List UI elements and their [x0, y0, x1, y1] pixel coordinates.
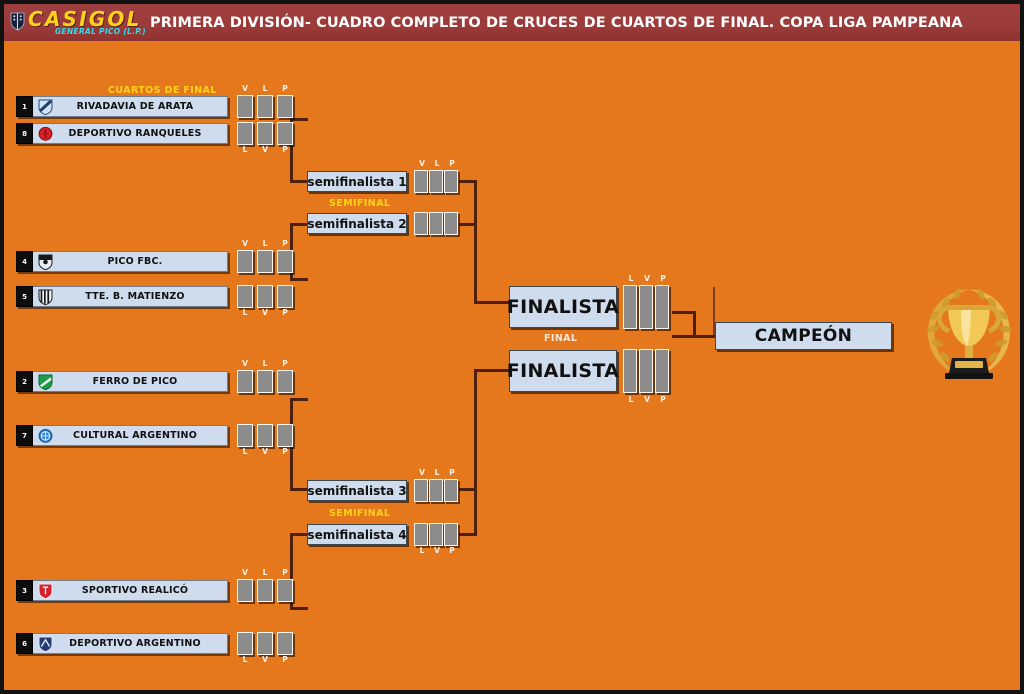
page-title: PRIMERA DIVISIÓN- CUADRO COMPLETO DE CRU…	[150, 15, 1023, 31]
semifinalista-2-slot[interactable]: semifinalista 2	[307, 213, 407, 234]
table-row[interactable]: 1 RIVADAVIA DE ARATA	[16, 96, 228, 117]
score-group-final-top[interactable]	[623, 285, 669, 329]
score-cell-p[interactable]	[277, 370, 293, 393]
score-group-sf2[interactable]	[414, 212, 458, 235]
score-cell-p[interactable]	[444, 212, 458, 235]
score-header-p: P	[278, 359, 292, 368]
label-cuartos-de-final: CUARTOS DE FINAL	[108, 85, 217, 96]
seed-number: 6	[16, 633, 33, 654]
score-cell-l[interactable]	[429, 170, 443, 193]
finalista-top-slot[interactable]: FINALISTA	[509, 286, 617, 328]
score-cell-v[interactable]	[257, 285, 273, 308]
table-row[interactable]: 2 FERRO DE PICO	[16, 371, 228, 392]
score-header-l: L	[238, 145, 252, 154]
score-header-p: P	[445, 468, 459, 477]
score-cell-p[interactable]	[444, 170, 458, 193]
score-header-p: P	[278, 308, 292, 317]
team-name: RIVADAVIA DE ARATA	[57, 96, 228, 117]
score-header-l: L	[238, 447, 252, 456]
campeon-slot[interactable]: CAMPEÓN	[715, 322, 892, 350]
crest-icon-rivadavia	[33, 96, 57, 117]
score-group-sf1[interactable]	[414, 170, 458, 193]
score-cell-p[interactable]	[277, 122, 293, 145]
score-group-qf2-top[interactable]	[237, 250, 293, 273]
score-cell-p[interactable]	[444, 523, 458, 546]
connector-qf3-out	[290, 488, 308, 491]
team-name: DEPORTIVO ARGENTINO	[57, 633, 228, 654]
score-cell-v[interactable]	[414, 170, 428, 193]
score-cell-l[interactable]	[623, 349, 637, 393]
score-header-l: L	[258, 84, 272, 93]
score-group-qf2-bot[interactable]	[237, 285, 293, 308]
table-row[interactable]: 8 DEPORTIVO RANQUELES	[16, 123, 228, 144]
score-cell-p[interactable]	[655, 349, 669, 393]
score-header-v: V	[258, 145, 272, 154]
score-cell-v[interactable]	[414, 479, 428, 502]
score-header-v: V	[258, 308, 272, 317]
crest-icon-pico-fbc	[33, 251, 57, 272]
score-cell-v[interactable]	[257, 122, 273, 145]
connector-champ-vert	[693, 311, 696, 337]
score-header-l: L	[415, 546, 429, 555]
team-name: FERRO DE PICO	[57, 371, 228, 392]
score-header-l: L	[624, 395, 638, 404]
score-cell-p[interactable]	[444, 479, 458, 502]
shield-icon	[10, 12, 25, 31]
crest-icon-ferro	[33, 371, 57, 392]
score-header-v: V	[640, 274, 654, 283]
score-cell-p[interactable]	[655, 285, 669, 329]
score-header-v: V	[415, 468, 429, 477]
score-group-sf3[interactable]	[414, 479, 458, 502]
score-cell-l[interactable]	[257, 579, 273, 602]
score-cell-p[interactable]	[277, 285, 293, 308]
team-name: DEPORTIVO RANQUELES	[57, 123, 228, 144]
score-header-l: L	[238, 655, 252, 664]
score-header-p: P	[278, 568, 292, 577]
table-row[interactable]: 4 PICO FBC.	[16, 251, 228, 272]
score-group-qf4-top[interactable]	[237, 579, 293, 602]
score-header-p: P	[278, 239, 292, 248]
score-cell-l[interactable]	[237, 285, 253, 308]
crest-icon-ranqueles	[33, 123, 57, 144]
seed-number: 3	[16, 580, 33, 601]
score-header-p: P	[445, 159, 459, 168]
score-cell-l[interactable]	[237, 122, 253, 145]
score-cell-l[interactable]	[429, 479, 443, 502]
seed-number: 5	[16, 286, 33, 307]
score-cell-l[interactable]	[414, 212, 428, 235]
score-header-p: P	[656, 395, 670, 404]
connector-sf-top-vert	[474, 180, 477, 304]
score-header-v: V	[415, 159, 429, 168]
score-cell-v[interactable]	[257, 632, 273, 655]
semifinalista-1-slot[interactable]: semifinalista 1	[307, 171, 407, 192]
table-row[interactable]: 6 DEPORTIVO ARGENTINO	[16, 633, 228, 654]
score-header-p: P	[278, 655, 292, 664]
score-cell-v[interactable]	[237, 370, 253, 393]
score-group-qf3-bot[interactable]	[237, 424, 293, 447]
score-header-v: V	[238, 84, 252, 93]
team-name: CULTURAL ARGENTINO	[57, 425, 228, 446]
connector-qf4-out	[290, 533, 308, 536]
score-cell-l[interactable]	[257, 250, 273, 273]
score-cell-p[interactable]	[277, 250, 293, 273]
score-cell-v[interactable]	[257, 424, 273, 447]
label-semifinal-top: SEMIFINAL	[329, 198, 390, 209]
score-cell-p[interactable]	[277, 579, 293, 602]
label-semifinal-bottom: SEMIFINAL	[329, 508, 390, 519]
score-header-l: L	[258, 359, 272, 368]
seed-number: 1	[16, 96, 33, 117]
score-header-l: L	[238, 308, 252, 317]
connector-final-top-in	[474, 301, 510, 304]
crest-icon-matienzo	[33, 286, 57, 307]
score-cell-v[interactable]	[237, 579, 253, 602]
score-header-v: V	[258, 447, 272, 456]
label-final: FINAL	[544, 333, 577, 344]
score-cell-v[interactable]	[237, 95, 253, 118]
team-name: SPORTIVO REALICÓ	[57, 580, 228, 601]
score-cell-p[interactable]	[277, 95, 293, 118]
crest-icon-deportivo-argentino	[33, 633, 57, 654]
score-header-l: L	[258, 239, 272, 248]
logo-wordmark: CASIGOL	[28, 9, 150, 29]
score-header-v: V	[238, 239, 252, 248]
score-header-p: P	[656, 274, 670, 283]
score-header-v: V	[258, 655, 272, 664]
seed-number: 7	[16, 425, 33, 446]
connector-qf2-out	[290, 223, 308, 226]
connector-qf1-out	[290, 180, 308, 183]
score-cell-v[interactable]	[639, 285, 653, 329]
score-group-sf4[interactable]	[414, 523, 458, 546]
score-header-l: L	[624, 274, 638, 283]
score-header-p: P	[445, 546, 459, 555]
score-cell-v[interactable]	[429, 212, 443, 235]
team-name: TTE. B. MATIENZO	[57, 286, 228, 307]
score-header-p: P	[278, 84, 292, 93]
score-cell-l[interactable]	[257, 95, 273, 118]
score-group-final-bottom[interactable]	[623, 349, 669, 393]
score-header-v: V	[238, 359, 252, 368]
bracket-page: CASIGOL GENERAL PICO (L.P.) PRIMERA DIVI…	[0, 0, 1024, 694]
score-cell-l[interactable]	[623, 285, 637, 329]
score-header-l: L	[258, 568, 272, 577]
score-cell-l[interactable]	[237, 632, 253, 655]
score-group-qf1-top[interactable]	[237, 95, 293, 118]
score-cell-p[interactable]	[277, 424, 293, 447]
score-cell-l[interactable]	[257, 370, 273, 393]
crest-icon-sportivo-realico	[33, 580, 57, 601]
score-header-v: V	[238, 568, 252, 577]
trophy-laurel-gold-icon	[919, 281, 1019, 385]
team-name: PICO FBC.	[57, 251, 228, 272]
seed-number: 4	[16, 251, 33, 272]
score-cell-v[interactable]	[237, 250, 253, 273]
finalista-bottom-slot[interactable]: FINALISTA	[509, 350, 617, 392]
table-row[interactable]: 5 TTE. B. MATIENZO	[16, 286, 228, 307]
score-cell-v[interactable]	[429, 523, 443, 546]
score-cell-l[interactable]	[414, 523, 428, 546]
table-row[interactable]: 7 CULTURAL ARGENTINO	[16, 425, 228, 446]
seed-number: 8	[16, 123, 33, 144]
score-header-v: V	[430, 546, 444, 555]
score-header-p: P	[278, 447, 292, 456]
score-cell-p[interactable]	[277, 632, 293, 655]
score-header-v: V	[640, 395, 654, 404]
semifinalista-3-slot[interactable]: semifinalista 3	[307, 480, 407, 501]
connector-final-bot-in	[474, 369, 510, 372]
score-group-qf4-bot[interactable]	[237, 632, 293, 655]
crest-icon-cultural-argentino	[33, 425, 57, 446]
score-header-l: L	[430, 159, 444, 168]
seed-number: 2	[16, 371, 33, 392]
score-header-l: L	[430, 468, 444, 477]
header-bar: CASIGOL GENERAL PICO (L.P.) PRIMERA DIVI…	[4, 4, 1020, 41]
table-row[interactable]: 3 SPORTIVO REALICÓ	[16, 580, 228, 601]
score-group-qf1-bot[interactable]	[237, 122, 293, 145]
semifinalista-4-slot[interactable]: semifinalista 4	[307, 524, 407, 545]
score-cell-l[interactable]	[237, 424, 253, 447]
score-header-p: P	[278, 145, 292, 154]
score-group-qf3-top[interactable]	[237, 370, 293, 393]
connector-sf-bot-vert	[474, 369, 477, 535]
casigol-logo: CASIGOL GENERAL PICO (L.P.)	[4, 4, 150, 41]
connector-champ-in	[672, 335, 717, 338]
score-cell-v[interactable]	[639, 349, 653, 393]
